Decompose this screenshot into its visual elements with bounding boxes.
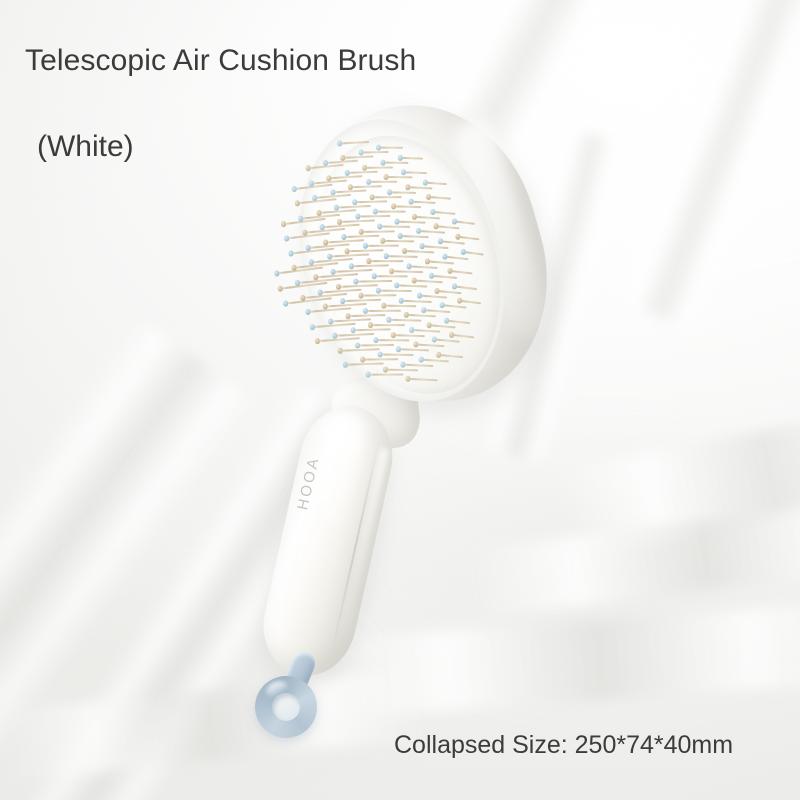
bristle-tip-blue xyxy=(395,347,401,353)
bristle-tip-blue xyxy=(430,209,436,215)
bristle-tip-tan xyxy=(362,165,367,170)
bristle-tip-tan xyxy=(368,323,373,328)
product-image: HOOA Telescopic Air Cushion Brush (White… xyxy=(0,0,800,800)
bristle-tip-blue xyxy=(451,219,457,225)
variant-label: (White) xyxy=(37,130,134,164)
bristle-tip-blue xyxy=(348,264,354,270)
bristle xyxy=(432,211,455,215)
bristle-tip-blue xyxy=(330,190,336,196)
bristle xyxy=(307,307,351,313)
bristle-tip-tan xyxy=(434,288,440,294)
bristle-tip-tan xyxy=(382,367,388,373)
bristle-tip-blue xyxy=(437,238,443,244)
bristle-tip-tan xyxy=(345,313,351,319)
bristle-tip-blue xyxy=(415,229,421,235)
bristle-tip-tan xyxy=(433,224,439,230)
bristle xyxy=(407,186,432,189)
bristle-tip-blue xyxy=(400,362,406,368)
bristle xyxy=(406,314,436,318)
bristle xyxy=(343,155,374,158)
bristle xyxy=(404,250,434,254)
bristle xyxy=(350,185,382,188)
bristle xyxy=(393,334,425,337)
bristle xyxy=(338,284,378,288)
bristle-tip-blue xyxy=(365,372,370,377)
bristle-tip-blue xyxy=(298,215,304,221)
bristle xyxy=(409,265,438,269)
bristle xyxy=(385,368,418,371)
bristle xyxy=(389,191,416,194)
bristle xyxy=(422,245,449,249)
bristle-tip-tan xyxy=(455,234,461,240)
bristle-tip-tan xyxy=(412,214,418,220)
bristle-tip-blue xyxy=(355,342,360,347)
bristle xyxy=(416,344,445,348)
bristle xyxy=(378,147,403,149)
bristle-tip-tan xyxy=(403,312,409,318)
bristle xyxy=(438,354,464,358)
bristle xyxy=(459,300,481,305)
bristle xyxy=(433,339,459,343)
bristle-tip-blue xyxy=(351,199,357,205)
bristle xyxy=(360,294,396,297)
bristle-tip-blue xyxy=(416,293,422,299)
bristle-tip-tan xyxy=(366,258,371,263)
bristle-tip-tan xyxy=(401,248,407,254)
bristle-tip-blue xyxy=(397,155,403,161)
bristle-tip-blue xyxy=(358,150,364,156)
bristle xyxy=(408,378,438,382)
bristle xyxy=(382,161,408,163)
bristle-tip-blue xyxy=(376,288,381,293)
bristle-tip-tan xyxy=(358,293,363,298)
bristle-tip-blue xyxy=(353,278,358,283)
bristle-tip-blue xyxy=(350,328,356,334)
bristle-tip-blue xyxy=(317,289,323,295)
bristle xyxy=(340,348,380,352)
bristle xyxy=(354,200,387,203)
bristle-tip-tan xyxy=(389,268,395,274)
bristle-tip-blue xyxy=(442,253,448,259)
bristle xyxy=(428,196,451,200)
bristle xyxy=(439,240,464,244)
bristle-tip-tan xyxy=(436,352,442,358)
bristle-tip-blue xyxy=(309,324,315,330)
bristle-tip-tan xyxy=(322,304,328,310)
bristle xyxy=(368,260,403,262)
bristle-tip-tan xyxy=(277,286,283,292)
bristle-tip-blue xyxy=(365,180,370,185)
bristle-tip-tan xyxy=(280,221,286,227)
bristle xyxy=(344,363,383,366)
bristle xyxy=(397,220,426,223)
bristle xyxy=(343,235,379,238)
bristle-tip-blue xyxy=(305,309,311,315)
bristle-tip-blue xyxy=(287,251,293,257)
bristle-tip-blue xyxy=(398,233,404,239)
bristle-tip-tan xyxy=(426,322,432,328)
bristle xyxy=(365,245,399,247)
bristle-tip-tan xyxy=(447,268,453,274)
bristle-tip-blue xyxy=(444,317,450,323)
bristle xyxy=(336,205,371,209)
bristle-tip-blue xyxy=(394,219,400,225)
bristle xyxy=(425,181,447,185)
bristle xyxy=(335,333,375,337)
bristle-tip-tan xyxy=(405,376,411,382)
bristle xyxy=(361,230,395,233)
bristle-tip-blue xyxy=(362,244,367,249)
bristle xyxy=(424,309,451,313)
bristle xyxy=(441,304,466,309)
bristle-tip-blue xyxy=(419,243,425,249)
bristle-tip-tan xyxy=(348,185,354,191)
bristle xyxy=(370,324,405,326)
bristle xyxy=(382,240,414,243)
bristle xyxy=(373,275,407,277)
bristle xyxy=(367,374,403,376)
bristles xyxy=(263,75,588,438)
bristle-tip-blue xyxy=(373,209,378,214)
bristle xyxy=(364,166,393,169)
bristle xyxy=(449,270,472,275)
bristle xyxy=(462,251,483,256)
bristle xyxy=(375,211,406,213)
bristle-tip-tan xyxy=(359,229,364,234)
bristle xyxy=(380,354,414,357)
bristle-tip-blue xyxy=(431,337,437,343)
bristle xyxy=(396,285,427,288)
bristle xyxy=(320,288,362,293)
bristle xyxy=(357,215,390,218)
bristle xyxy=(436,226,460,230)
bristle xyxy=(317,337,360,342)
bristle-tip-blue xyxy=(406,263,412,269)
bristle xyxy=(400,235,429,238)
bristle-tip-blue xyxy=(408,327,414,333)
bristle-tip-blue xyxy=(333,205,339,211)
bristle-tip-blue xyxy=(327,318,333,324)
bristle xyxy=(357,344,394,347)
bristle-tip-blue xyxy=(460,249,466,255)
bristle-tip-blue xyxy=(340,298,346,304)
bristle-tip-blue xyxy=(379,160,384,165)
bristle-tip-blue xyxy=(393,283,399,289)
bristle xyxy=(454,221,475,226)
bristle-tip-blue xyxy=(387,189,393,195)
bristle xyxy=(403,171,427,174)
bristle xyxy=(444,255,468,260)
bristle-tip-blue xyxy=(376,145,381,150)
bristle-tip-blue xyxy=(330,269,336,275)
bristle-tip-tan xyxy=(390,204,396,210)
bristle xyxy=(401,299,432,302)
bristle xyxy=(386,255,418,258)
bristle-tip-blue xyxy=(337,140,343,146)
bristle-tip-tan xyxy=(360,357,365,362)
bristle-tip-blue xyxy=(291,186,297,192)
bristle xyxy=(343,299,382,302)
bristle-tip-blue xyxy=(418,357,424,363)
bristle xyxy=(365,309,401,311)
bristle-tip-blue xyxy=(398,298,404,304)
bristle xyxy=(375,339,409,341)
bristle-tip-blue xyxy=(429,273,435,279)
bristle xyxy=(379,226,410,228)
bristle xyxy=(431,275,457,279)
bristle-tip-tan xyxy=(411,278,417,284)
bristle-tip-tan xyxy=(312,274,318,280)
bristle xyxy=(351,264,389,267)
bristle-tip-blue xyxy=(373,337,378,342)
bristle xyxy=(388,319,421,322)
bristle xyxy=(340,220,376,224)
bristle-tip-blue xyxy=(421,307,427,313)
bristle-tip-tan xyxy=(316,210,322,216)
bristle-tip-blue xyxy=(386,317,392,323)
bristle-tip-blue xyxy=(344,170,350,176)
bristle xyxy=(347,314,385,317)
bristle xyxy=(286,233,329,240)
bristle xyxy=(420,358,448,362)
bristle-tip-blue xyxy=(384,253,390,259)
bristle-tip-blue xyxy=(439,303,445,309)
bristle xyxy=(339,141,369,145)
bristle-tip-tan xyxy=(323,239,329,245)
bristle-tip-blue xyxy=(371,273,376,278)
bristle xyxy=(411,329,440,333)
bristle xyxy=(398,349,429,352)
bristle xyxy=(368,181,397,183)
bristle-tip-blue xyxy=(355,214,360,219)
bristle xyxy=(418,230,445,234)
bristle-tip-tan xyxy=(314,339,320,345)
bristle-tip-tan xyxy=(305,166,311,172)
bristle xyxy=(352,329,390,332)
bristle xyxy=(414,280,443,284)
bristle-tip-tan xyxy=(369,194,374,199)
bristle-tip-blue xyxy=(376,224,381,229)
bristle-tip-blue xyxy=(342,362,348,368)
bristle xyxy=(446,319,470,324)
bristle-tip-tan xyxy=(381,303,386,308)
bristle-tip-blue xyxy=(322,160,328,166)
product-photo-brush: HOOA xyxy=(0,0,800,800)
bristle-tip-blue xyxy=(282,300,288,306)
bristle-tip-tan xyxy=(300,295,306,301)
page-title: Telescopic Air Cushion Brush xyxy=(25,44,416,78)
bristle xyxy=(378,290,412,293)
bristle-tip-tan xyxy=(337,348,343,354)
bristle xyxy=(393,206,421,209)
bristle-tip-tan xyxy=(383,175,388,180)
collapsed-size-note: Collapsed Size: 250*74*40mm xyxy=(394,731,733,760)
bristle xyxy=(371,196,401,198)
bristle-tip-tan xyxy=(294,201,300,207)
bristle xyxy=(403,363,434,366)
bristle-tip-blue xyxy=(378,352,383,357)
bristle xyxy=(411,201,436,204)
bristle xyxy=(346,170,377,173)
bristle-tip-tan xyxy=(390,332,396,338)
bristle-tip-blue xyxy=(341,234,347,240)
bristle xyxy=(330,318,371,322)
bristle xyxy=(362,359,398,361)
bristle xyxy=(360,151,388,154)
bristle-tip-blue xyxy=(422,179,428,185)
bristle xyxy=(428,324,455,328)
bristle-tip-tan xyxy=(424,258,430,264)
bristle-tip-blue xyxy=(305,245,311,251)
bristle xyxy=(355,279,392,282)
bristle-tip-tan xyxy=(335,284,341,290)
bristle xyxy=(391,270,423,273)
bristle-tip-tan xyxy=(413,342,419,348)
bristle-tip-blue xyxy=(401,170,407,176)
bristle-tip-tan xyxy=(405,184,411,190)
bristle xyxy=(347,250,384,253)
bristle xyxy=(419,294,447,298)
bristle-tip-tan xyxy=(326,175,332,181)
bristle-tip-blue xyxy=(273,271,279,277)
bristle xyxy=(312,322,356,327)
bristle-tip-blue xyxy=(363,308,368,313)
bristle-tip-tan xyxy=(380,239,385,244)
bristle xyxy=(457,236,479,241)
bristle xyxy=(333,269,373,273)
bristle-tip-tan xyxy=(426,194,432,200)
bristle-tip-blue xyxy=(308,180,314,186)
bristle-tip-tan xyxy=(457,298,463,304)
bristle-tip-blue xyxy=(408,199,414,205)
bristle xyxy=(451,334,475,339)
bristle xyxy=(383,304,416,307)
bristle-tip-tan xyxy=(449,332,455,338)
bristle xyxy=(436,290,461,294)
bristle-tip-tan xyxy=(302,230,308,236)
bristle xyxy=(386,176,413,179)
bristle xyxy=(414,216,440,220)
bristle-tip-blue xyxy=(452,283,458,289)
bristle xyxy=(427,260,454,264)
bristle xyxy=(454,285,477,290)
bristle xyxy=(400,157,423,160)
bristle-tip-blue xyxy=(284,236,290,242)
